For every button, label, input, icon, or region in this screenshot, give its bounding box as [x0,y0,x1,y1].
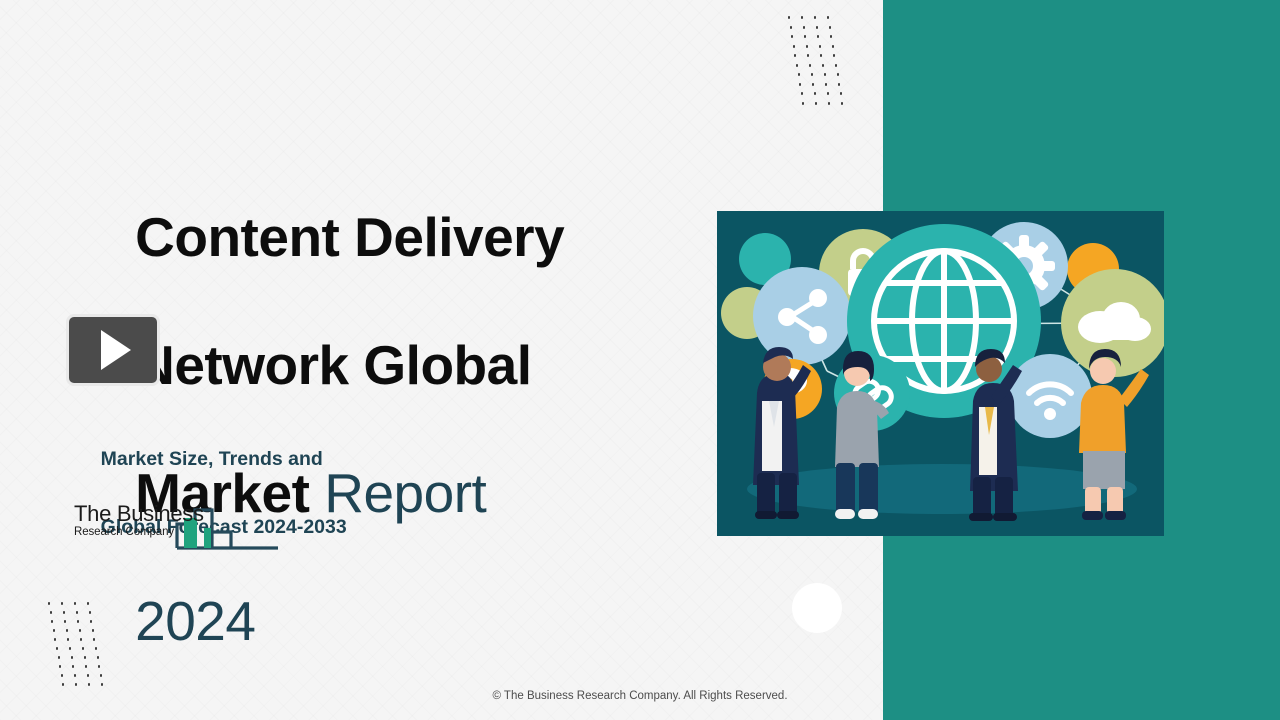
network-illustration-graphic [717,211,1164,536]
cloud-icon [1061,269,1164,377]
slide-root: Content Delivery Network Global Market R… [0,0,1280,720]
hero-illustration [717,211,1164,536]
subtitle-line-1: Market Size, Trends and [101,448,323,470]
title-line-1: Content Delivery [135,206,564,268]
logo-line-1: The Business [74,502,204,526]
title-line-2: Network Global [135,334,531,396]
play-video-button[interactable] [66,314,160,386]
decorative-white-circle [792,583,842,633]
decorative-dots-top-right [788,16,848,110]
wifi-icon [1008,354,1092,438]
play-triangle-icon [101,330,131,370]
logo-line-2: Research Company [74,525,204,539]
share-icon [753,267,851,365]
title-line-4-accent: 2024 [135,590,255,652]
logo-wordmark: The Business Research Company [74,502,204,539]
floor-shadow [747,464,1137,514]
company-logo: The Business Research Company [74,488,284,550]
footer-copyright: © The Business Research Company. All Rig… [0,690,1280,702]
